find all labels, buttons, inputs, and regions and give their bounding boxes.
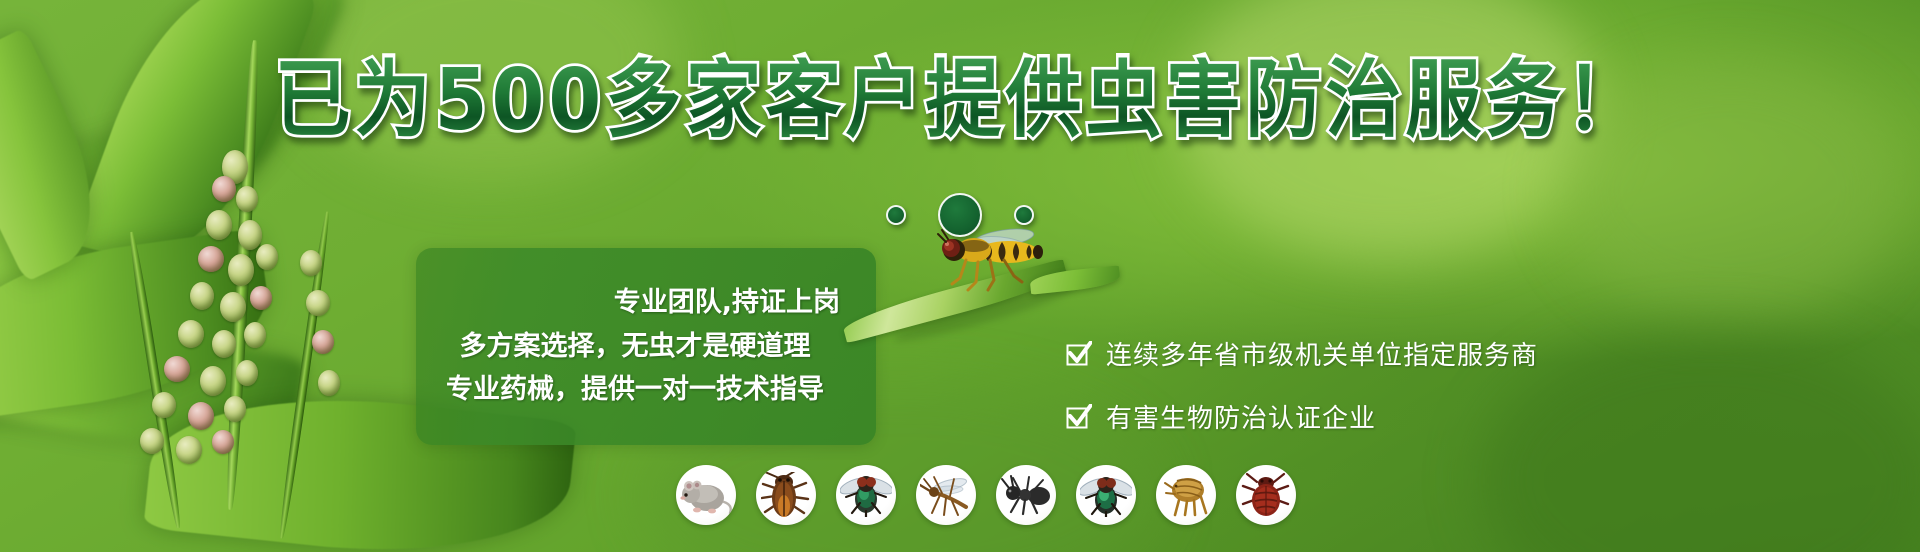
feature-panel-line-1: 专业团队,持证上岗 (416, 288, 854, 318)
seed-bud (256, 244, 278, 270)
certification-checklist: 连续多年省市级机关单位指定服务商 有害生物防治认证企业 (1066, 335, 1538, 435)
pest-icon-bedbug[interactable] (1236, 465, 1296, 525)
seed-bud (178, 320, 204, 348)
seed-bud (164, 356, 190, 382)
checklist-item: 有害生物防治认证企业 (1066, 398, 1538, 435)
banner-headline: 已为500多家客户提供虫害防治服务！ (275, 57, 1646, 142)
seed-bud (152, 392, 176, 418)
bokeh-blob (1480, 330, 1920, 552)
seed-bud (200, 366, 226, 396)
decorative-dot-small-left (886, 205, 906, 225)
cockroach-icon (761, 472, 811, 518)
seed-bud (236, 360, 258, 386)
seed-bud (228, 254, 254, 286)
headline-region: 已为500多家客户提供虫害防治服务！ 已为500多家客户提供虫害防治服务！ (0, 62, 1920, 138)
seed-bud (300, 250, 322, 276)
checklist-item-label: 有害生物防治认证企业 (1106, 398, 1376, 435)
checklist-item-label: 连续多年省市级机关单位指定服务商 (1106, 335, 1538, 372)
hoverfly-icon (930, 212, 1060, 298)
bedbug-icon (1241, 472, 1291, 518)
pest-icon-flea[interactable] (1156, 465, 1216, 525)
seed-bud (190, 282, 214, 310)
blowfly-icon (1080, 473, 1132, 517)
feature-panel: 专业团队,持证上岗 多方案选择，无虫才是硬道理 专业药械，提供一对一技术指导 (416, 248, 876, 445)
feature-panel-line-2: 多方案选择，无虫才是硬道理 (416, 332, 854, 362)
hoverfly-scene (880, 230, 1120, 350)
flea-icon (1161, 473, 1211, 517)
checklist-item: 连续多年省市级机关单位指定服务商 (1066, 335, 1538, 372)
seed-bud (224, 396, 246, 422)
pest-icon-blowfly[interactable] (1076, 465, 1136, 525)
pest-icon-fly[interactable] (836, 465, 896, 525)
pest-icon-mosquito[interactable] (916, 465, 976, 525)
seed-bud (212, 330, 236, 358)
checkbox-checked-icon (1066, 404, 1092, 430)
seed-bud (220, 292, 246, 322)
pest-control-hero-banner: 已为500多家客户提供虫害防治服务！ 已为500多家客户提供虫害防治服务！ 专业… (0, 0, 1920, 552)
seed-bud (306, 290, 330, 316)
ant-icon (1001, 474, 1051, 516)
mouse-icon (680, 474, 732, 516)
pest-icon-cockroach[interactable] (756, 465, 816, 525)
seed-bud (318, 370, 340, 396)
mosquito-icon (920, 473, 972, 517)
seed-bud (244, 322, 266, 348)
seed-bud (176, 436, 202, 464)
seed-bud (312, 330, 334, 354)
pest-icon-row (676, 465, 1296, 525)
pest-icon-ant[interactable] (996, 465, 1056, 525)
seed-bud (212, 430, 234, 454)
fly-icon (840, 473, 892, 517)
checkbox-checked-icon (1066, 341, 1092, 367)
seed-bud (140, 428, 164, 454)
seed-bud (188, 402, 214, 430)
seed-bud (250, 286, 272, 310)
pest-icon-mouse[interactable] (676, 465, 736, 525)
feature-panel-line-3: 专业药械，提供一对一技术指导 (416, 375, 854, 405)
seed-bud (198, 246, 224, 272)
